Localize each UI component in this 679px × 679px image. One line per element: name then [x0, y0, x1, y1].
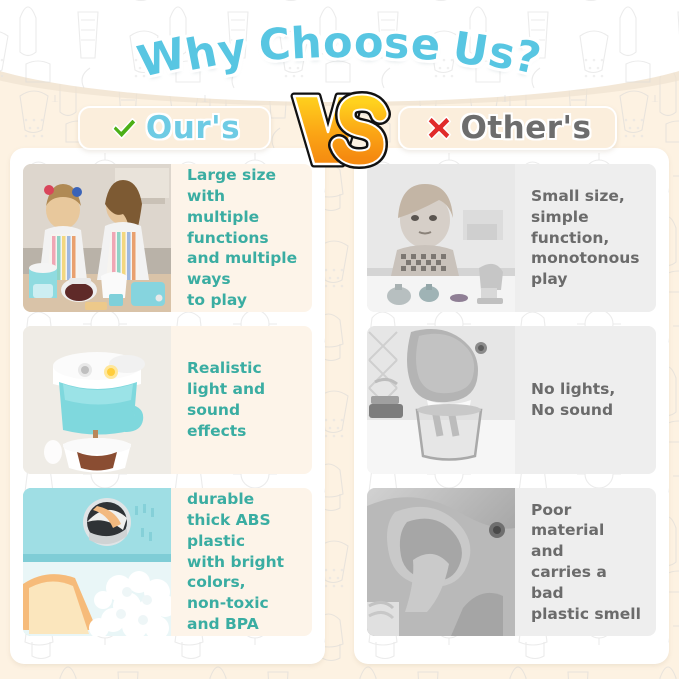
photo-toaster-closeup	[23, 488, 171, 636]
ours-badge: Our's	[78, 106, 271, 150]
page-title-text: WhyChooseUs?	[138, 18, 542, 68]
ours-badge-label: Our's	[146, 110, 240, 146]
others-badge-label: Other's	[461, 110, 592, 146]
infographic-root: WhyChooseUs? Our's	[0, 0, 679, 679]
others-row: Small size, simple function, monotonous …	[367, 164, 656, 312]
others-column: Small size, simple function, monotonous …	[354, 148, 669, 664]
others-row-text: No lights, No sound	[531, 379, 615, 421]
ours-row-caption: Realistic light and sound effects	[171, 326, 312, 474]
ours-row: Large size with multiple functions and m…	[23, 164, 312, 312]
photo-plastic-mixer-closeup-grayscale	[367, 488, 515, 636]
photo-toy-coffee-maker	[23, 326, 171, 474]
page-title-char: C	[257, 19, 294, 72]
photo-mixer-over-cup-grayscale	[367, 326, 515, 474]
page-title-char: o	[323, 18, 354, 69]
ours-column: Large size with multiple functions and m…	[10, 148, 325, 664]
ours-row-caption: Large size with multiple functions and m…	[171, 164, 312, 312]
ours-row-text: Large size with multiple functions and m…	[187, 165, 298, 310]
others-row: No lights, No sound	[367, 326, 656, 474]
cross-mark-icon	[424, 113, 454, 143]
others-row-caption: Small size, simple function, monotonous …	[515, 164, 656, 312]
page-title-char: s	[383, 18, 412, 69]
page-title-char: o	[353, 18, 384, 69]
others-badge: Other's	[398, 106, 617, 150]
vs-emblem	[288, 86, 392, 170]
others-row-text: Small size, simple function, monotonous …	[531, 186, 642, 290]
check-mark-icon	[109, 113, 139, 143]
page-title: WhyChooseUs?	[0, 8, 679, 78]
others-row-text: Poor material and carries a bad plastic …	[531, 500, 642, 625]
others-row-caption: No lights, No sound	[515, 326, 656, 474]
others-row-caption: Poor material and carries a bad plastic …	[515, 488, 656, 636]
photo-girl-small-toys-grayscale	[367, 164, 515, 312]
ours-row: Made of durable thick ABS plastic with b…	[23, 488, 312, 636]
photo-two-girls-toy-kitchen	[23, 164, 171, 312]
page-title-char: h	[290, 18, 324, 70]
ours-row-text: Made of durable thick ABS plastic with b…	[187, 488, 298, 636]
ours-row-text: Realistic light and sound effects	[187, 358, 298, 441]
comparison-header: Our's Other's	[0, 98, 679, 160]
ours-row: Realistic light and sound effects	[23, 326, 312, 474]
page-title-char: e	[409, 19, 443, 71]
ours-row-caption: Made of durable thick ABS plastic with b…	[171, 488, 312, 636]
others-row: Poor material and carries a bad plastic …	[367, 488, 656, 636]
